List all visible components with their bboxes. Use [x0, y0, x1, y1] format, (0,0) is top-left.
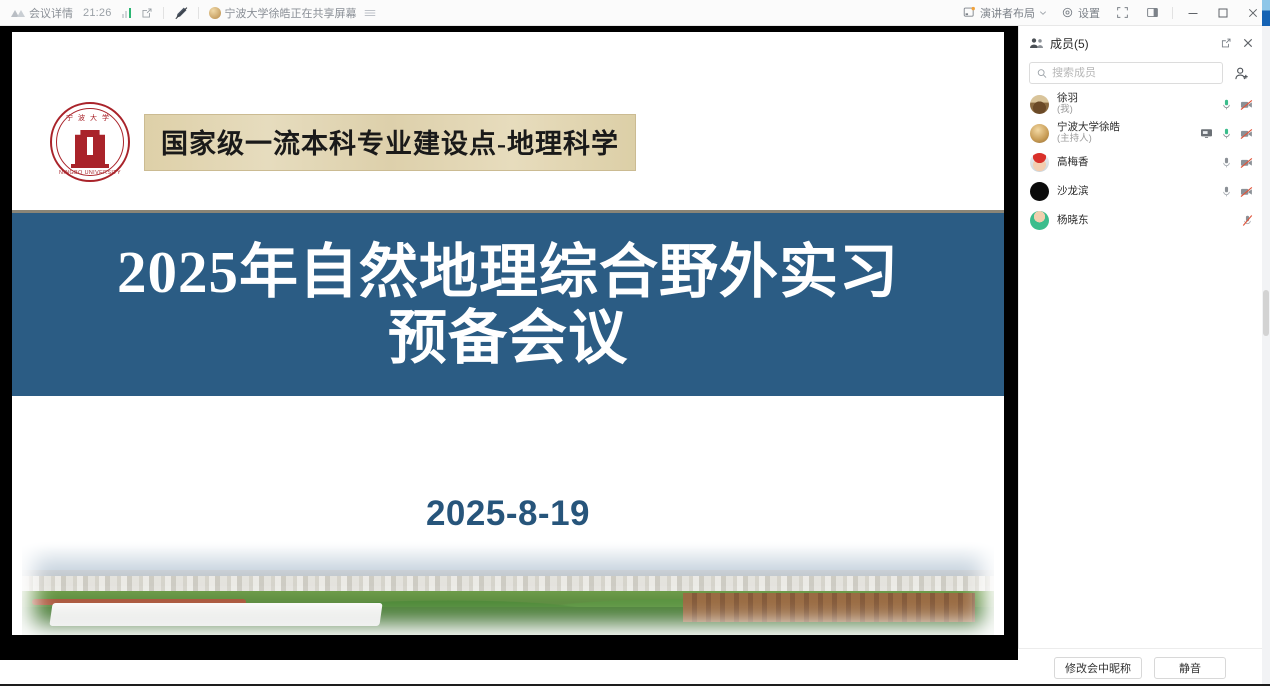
sharing-status-label: 宁波大学徐皓正在共享屏幕: [225, 5, 357, 21]
speaker-layout-button[interactable]: 演讲者布局: [956, 0, 1054, 26]
slide-title-band: 2025年自然地理综合野外实习 预备会议: [12, 210, 1004, 396]
participant-actions: [1221, 185, 1253, 198]
participants-list[interactable]: 徐羽(我)宁波大学徐皓(主持人)高梅香沙龙滨杨晓东: [1019, 90, 1262, 235]
add-participant-button[interactable]: [1230, 62, 1252, 84]
fullscreen-icon: [1116, 6, 1129, 19]
add-user-icon: [1234, 66, 1249, 81]
participant-actions: [1200, 127, 1253, 140]
participant-actions: [1221, 98, 1253, 111]
minimize-icon: [1187, 7, 1199, 19]
settings-label: 设置: [1078, 5, 1100, 21]
close-icon: [1247, 7, 1259, 19]
window-edge-scrollbar[interactable]: [1262, 0, 1270, 686]
participant-info: 杨晓东: [1057, 215, 1089, 227]
participant-row[interactable]: 杨晓东: [1019, 206, 1262, 235]
microphone-on-icon[interactable]: [1221, 98, 1232, 111]
participant-actions: [1221, 156, 1253, 169]
scrollbar-thumb[interactable]: [1263, 290, 1269, 336]
participant-name: 杨晓东: [1057, 215, 1089, 227]
participant-actions: [1242, 214, 1253, 227]
logo-cn-text: 宁波大学: [52, 113, 128, 123]
titlebar-left-group: 会议详情 21:26: [0, 0, 381, 26]
minimize-button[interactable]: [1178, 0, 1208, 26]
participants-panel-title: 成员(5): [1050, 35, 1089, 52]
participant-row[interactable]: 沙龙滨: [1019, 177, 1262, 206]
titlebar-divider-2: [198, 7, 199, 19]
popout-button[interactable]: [136, 0, 158, 26]
maximize-button[interactable]: [1208, 0, 1238, 26]
participant-info: 沙龙滨: [1057, 186, 1089, 198]
slide-date: 2025-8-19: [12, 494, 1004, 534]
participant-name: 沙龙滨: [1057, 186, 1089, 198]
participants-panel-header: 成员(5): [1019, 30, 1262, 56]
program-banner: 国家级一流本科专业建设点-地理科学: [144, 114, 636, 171]
microphone-muted-icon[interactable]: [1221, 185, 1232, 198]
participant-row[interactable]: 徐羽(我): [1019, 90, 1262, 119]
camera-off-icon[interactable]: [1240, 186, 1253, 198]
list-lines-icon: [364, 8, 376, 18]
logo-en-text: NINGBO UNIVERSITY: [52, 170, 128, 176]
participant-name: 高梅香: [1057, 157, 1089, 169]
mute-button[interactable]: 静音: [1154, 657, 1226, 679]
search-input[interactable]: [1052, 67, 1215, 79]
participant-role: (我): [1057, 105, 1078, 116]
window-titlebar: 会议详情 21:26: [0, 0, 1270, 26]
layout-icon: [963, 6, 976, 19]
maximize-icon: [1217, 7, 1229, 19]
annotation-toggle-button[interactable]: [169, 0, 193, 26]
popout-icon: [141, 7, 153, 19]
window-edge-top-accent: [1262, 0, 1270, 26]
titlebar-right-group: 演讲者布局 设置: [956, 0, 1270, 26]
participant-info: 徐羽(我): [1057, 93, 1078, 115]
gear-icon: [1061, 6, 1074, 19]
microphone-muted-icon[interactable]: [1221, 156, 1232, 169]
people-icon: [1029, 37, 1044, 49]
rename-button[interactable]: 修改会中昵称: [1054, 657, 1142, 679]
mountain-icon: [11, 8, 25, 18]
participants-panel-footer: 修改会中昵称 静音: [1018, 648, 1262, 686]
participants-panel-actions: [1220, 37, 1254, 49]
participant-info: 宁波大学徐皓(主持人): [1057, 122, 1120, 144]
participant-avatar: [1030, 124, 1049, 143]
participant-row[interactable]: 高梅香: [1019, 148, 1262, 177]
search-box[interactable]: [1029, 62, 1223, 84]
signal-bars-icon: [122, 8, 131, 18]
microphone-disabled-icon[interactable]: [1242, 214, 1253, 227]
network-signal-button[interactable]: [117, 0, 136, 26]
program-banner-text: 国家级一流本科专业建设点-地理科学: [161, 122, 619, 161]
sharing-status-chip[interactable]: 宁波大学徐皓正在共享屏幕: [204, 0, 381, 26]
titlebar-divider-3: [1172, 7, 1173, 19]
shared-screen-stage[interactable]: 宁波大学 NINGBO UNIVERSITY 国家级一流本科专业建设点-地理科学…: [0, 26, 1018, 660]
camera-off-icon[interactable]: [1240, 157, 1253, 169]
annotation-disabled-icon: [174, 6, 188, 20]
campus-panorama-image: [22, 540, 994, 635]
participants-panel: 成员(5): [1018, 26, 1262, 686]
speaker-layout-label: 演讲者布局: [980, 5, 1035, 21]
screen-share-active-icon[interactable]: [1200, 128, 1213, 139]
participant-info: 高梅香: [1057, 157, 1089, 169]
slide-title-line-1: 2025年自然地理综合野外实习: [117, 239, 899, 305]
participant-avatar: [1030, 182, 1049, 201]
participant-avatar: [1030, 211, 1049, 230]
ningbo-university-logo-icon: 宁波大学 NINGBO UNIVERSITY: [50, 102, 130, 182]
participant-avatar: [1030, 153, 1049, 172]
participants-search-row: [1019, 56, 1262, 84]
titlebar-divider: [163, 7, 164, 19]
meeting-timer: 21:26: [78, 0, 117, 26]
microphone-on-icon[interactable]: [1221, 127, 1232, 140]
search-icon: [1037, 68, 1047, 79]
slide-title-line-2: 预备会议: [388, 305, 628, 371]
fullscreen-button[interactable]: [1107, 0, 1137, 26]
meeting-details-button[interactable]: 会议详情: [6, 0, 78, 26]
participant-row[interactable]: 宁波大学徐皓(主持人): [1019, 119, 1262, 148]
meeting-details-label: 会议详情: [29, 5, 73, 21]
popout-panel-icon[interactable]: [1220, 37, 1232, 49]
presentation-slide: 宁波大学 NINGBO UNIVERSITY 国家级一流本科专业建设点-地理科学…: [12, 32, 1004, 635]
participant-role: (主持人): [1057, 134, 1120, 145]
sharer-avatar: [209, 7, 221, 19]
chevron-down-icon: [1039, 9, 1047, 17]
slide-header: 宁波大学 NINGBO UNIVERSITY 国家级一流本科专业建设点-地理科学: [50, 102, 636, 182]
camera-off-icon[interactable]: [1240, 128, 1253, 140]
participant-avatar: [1030, 95, 1049, 114]
settings-button[interactable]: 设置: [1054, 0, 1107, 26]
meeting-time-label: 21:26: [83, 7, 112, 19]
meeting-app-window: 会议详情 21:26: [0, 0, 1270, 686]
camera-off-icon[interactable]: [1240, 99, 1253, 111]
sidebar-toggle-button[interactable]: [1137, 0, 1167, 26]
close-panel-icon[interactable]: [1242, 37, 1254, 49]
sidebar-toggle-icon: [1146, 6, 1159, 19]
